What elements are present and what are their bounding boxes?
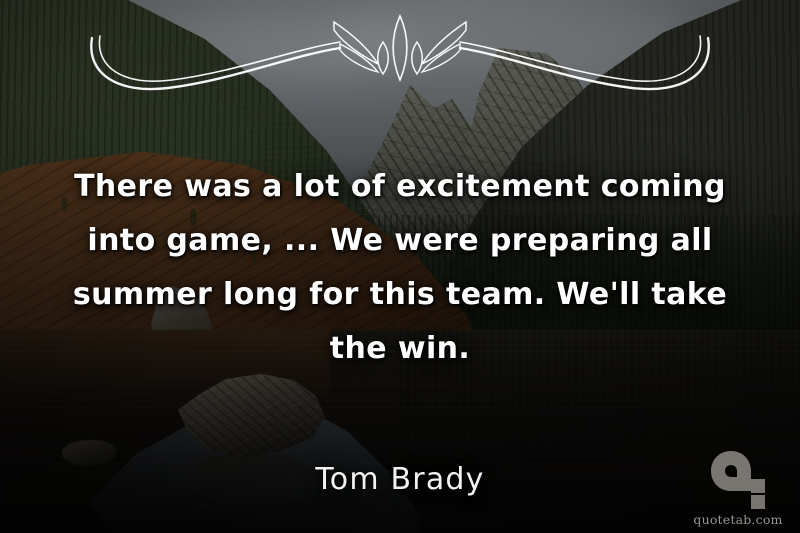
quotetab-q-logo-icon	[710, 449, 766, 511]
quote-text: There was a lot of excitement coming int…	[50, 160, 750, 376]
watermark[interactable]: quotetab.com	[684, 449, 792, 527]
flourish-divider	[0, 8, 800, 92]
watermark-site-label: quotetab.com	[684, 512, 792, 527]
quote-author: Tom Brady	[0, 462, 800, 497]
quote-image-canvas: There was a lot of excitement coming int…	[0, 0, 800, 533]
